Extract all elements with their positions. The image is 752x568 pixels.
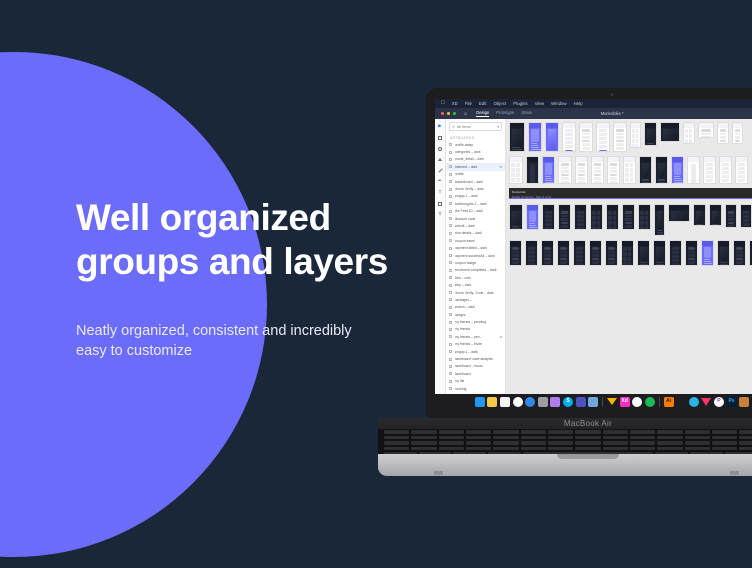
layer-name: packages –	[455, 298, 503, 302]
artboard[interactable]: shot	[655, 156, 668, 184]
menu-item-edit[interactable]: Edit	[479, 101, 487, 106]
layer-component-icon: ⧉	[500, 165, 502, 169]
artboard[interactable]: splash	[542, 156, 555, 184]
layer-visibility-icon[interactable]	[449, 365, 452, 368]
menu-item-help[interactable]: Help	[574, 101, 583, 106]
artboard[interactable]: grid	[630, 122, 641, 148]
keyboard-key	[384, 441, 409, 445]
keyboard-key	[630, 447, 655, 451]
layer-visibility-icon[interactable]	[449, 143, 452, 146]
menu-item-view[interactable]: View	[535, 101, 544, 106]
layer-name: profile	[455, 172, 503, 176]
layer-row[interactable]: phone Verify – dark	[446, 185, 505, 192]
keyboard-key	[466, 441, 491, 445]
chrome-icon[interactable]	[632, 397, 642, 407]
layer-visibility-icon[interactable]	[449, 372, 452, 375]
artboard[interactable]: cover	[509, 122, 525, 152]
keyboard-key	[657, 436, 682, 440]
layer-visibility-icon[interactable]	[449, 313, 452, 316]
layer-name: dashboard – hours	[455, 364, 503, 368]
artboard[interactable]: game	[638, 204, 651, 230]
appstore-icon[interactable]	[525, 397, 535, 407]
poster-stage: Well organized groups and layers Neatly …	[0, 0, 752, 568]
layer-name: search – dark	[455, 305, 503, 309]
layer-row[interactable]: badges	[446, 311, 505, 318]
artboard[interactable]: rank	[591, 156, 604, 184]
app-body: ▶ ✒ T ⚲ ⚲ All Items	[435, 119, 752, 394]
tab-prototype[interactable]: Prototype	[496, 110, 514, 117]
layer-row[interactable]: my friends	[446, 326, 505, 333]
keyboard-key	[466, 436, 491, 440]
keyboard-key	[739, 430, 752, 434]
device-label: MacBook Air	[378, 419, 752, 428]
principle-icon[interactable]: P	[714, 397, 724, 407]
keyboard-key	[548, 447, 573, 451]
layer-visibility-icon[interactable]	[449, 210, 452, 213]
layer-name: enrolment completed – dark	[455, 268, 503, 272]
home-icon[interactable]: ⌂	[464, 111, 467, 117]
calendar-icon[interactable]	[500, 397, 510, 407]
artboard[interactable]: menu	[732, 122, 743, 144]
layer-row[interactable]: my friends – invite	[446, 341, 505, 348]
layer-list[interactable]: profile-delaycategories – darkmovie_deta…	[446, 141, 505, 394]
layer-row[interactable]: packages –	[446, 296, 505, 303]
layer-row[interactable]: else details – dark	[446, 230, 505, 237]
keyboard-key	[712, 430, 737, 434]
layer-row[interactable]: featured – dark⧉	[446, 163, 505, 170]
keyboard-key	[603, 430, 628, 434]
layer-visibility-icon[interactable]	[449, 188, 452, 191]
artboard[interactable]: intro	[526, 204, 539, 230]
artboard[interactable]: keys	[606, 204, 619, 230]
keyboard-key	[493, 447, 518, 451]
tool-rail: ▶ ✒ T ⚲	[435, 119, 446, 394]
layer-row[interactable]: payment successful – dark	[446, 252, 505, 259]
layer-visibility-icon[interactable]	[449, 224, 452, 227]
keyboard-key	[411, 436, 436, 440]
keyboard-key	[439, 430, 464, 434]
keyboard-key	[493, 436, 518, 440]
files-icon[interactable]	[588, 397, 598, 407]
layer-name: profile-delay	[455, 143, 503, 147]
layer-visibility-icon[interactable]	[449, 180, 452, 183]
banner-subtitle: Mobile UI Design · Dark & Light	[512, 195, 752, 199]
layer-name: singup.1 – dark	[455, 194, 503, 198]
artboard[interactable]: cards	[613, 122, 627, 152]
document-title: Mockofolia *	[601, 111, 624, 116]
layer-row[interactable]: movie_detail – dark	[446, 156, 505, 163]
artboard[interactable]: form	[574, 204, 587, 230]
menu-item-plugins[interactable]: Plugins	[513, 101, 527, 106]
artboard[interactable]: poster	[545, 122, 559, 152]
keyboard-key	[603, 447, 628, 451]
layer-row[interactable]: phone Verify: Code – dark	[446, 289, 505, 296]
keyboard-key	[411, 447, 436, 451]
invision-icon[interactable]	[701, 398, 711, 406]
artboard[interactable]: stream	[668, 204, 690, 222]
artboard[interactable]: feed	[683, 122, 695, 144]
apple-logo-icon[interactable]: 	[441, 101, 445, 106]
artboard[interactable]: n	[717, 240, 730, 266]
layer-visibility-icon[interactable]	[449, 165, 452, 168]
artboard[interactable]: stats	[607, 156, 620, 184]
artboard[interactable]: i	[637, 240, 650, 266]
artboard[interactable]: photo	[639, 156, 652, 184]
layer-name: categories – dark	[455, 150, 503, 154]
artboard[interactable]: intro	[528, 122, 542, 152]
layer-visibility-icon[interactable]	[449, 261, 452, 264]
layer-name: coupon travel	[455, 239, 503, 243]
keyboard-key	[685, 441, 710, 445]
layer-visibility-icon[interactable]	[449, 269, 452, 272]
minimize-icon[interactable]	[447, 112, 450, 115]
photoshop-icon[interactable]: Ps	[727, 397, 737, 407]
layer-name: leaderboard – dark	[455, 180, 503, 184]
layer-row[interactable]: step – dark	[446, 281, 505, 288]
keyboard-key	[657, 447, 682, 451]
layer-visibility-icon[interactable]	[449, 291, 452, 294]
chevron-down-icon[interactable]: ▾	[497, 125, 499, 129]
photos-icon[interactable]	[513, 397, 523, 407]
text-tool-icon[interactable]: T	[438, 190, 443, 195]
artboard[interactable]: l	[685, 240, 698, 266]
window-controls[interactable]	[441, 112, 456, 115]
artboard[interactable]: player	[660, 122, 680, 142]
artboard-tool-icon[interactable]	[438, 201, 443, 206]
layer-row[interactable]: profile-delay	[446, 141, 505, 148]
keyboard-key	[712, 441, 737, 445]
skype-icon[interactable]: S	[563, 397, 573, 407]
layer-row[interactable]: discount code	[446, 215, 505, 222]
laptop-notch	[557, 454, 619, 459]
artboard-row: homedevicesplashnewsitemsrankstatstagsph…	[509, 156, 752, 184]
layer-row[interactable]: enrolment completed – dark	[446, 267, 505, 274]
keyboard-key	[575, 441, 600, 445]
layer-visibility-icon[interactable]	[449, 284, 452, 287]
layer-row[interactable]: watchoughts 2 – dark	[446, 200, 505, 207]
artboard[interactable]: f	[589, 240, 602, 266]
layer-name: step – dark	[455, 283, 503, 287]
close-icon[interactable]	[441, 112, 444, 115]
layer-name: discount code	[455, 217, 503, 221]
layer-visibility-icon[interactable]	[449, 202, 452, 205]
artboard[interactable]: items	[575, 156, 588, 184]
notes-icon[interactable]	[487, 397, 497, 407]
artboard-row: coverintroposterdetaillistformcardsgridv…	[509, 122, 752, 152]
layer-name: dashboard: case analysis	[455, 357, 503, 361]
artboard-row: abcdefghijklmnop	[509, 240, 752, 266]
artboard[interactable]: panel	[740, 204, 752, 228]
blue-orb-icon[interactable]	[689, 397, 699, 407]
layer-row[interactable]: dashboard: case analysis	[446, 355, 505, 362]
layer-row[interactable]: categories – dark	[446, 148, 505, 155]
keyboard-key	[630, 441, 655, 445]
keyboard-key	[685, 436, 710, 440]
artboard[interactable]: menu	[622, 204, 635, 230]
keyboard-key	[384, 447, 409, 451]
layer-row[interactable]: coupon badge	[446, 259, 505, 266]
layer-row[interactable]: tiles – cost	[446, 274, 505, 281]
artboard[interactable]: g	[605, 240, 618, 266]
layer-visibility-icon[interactable]	[449, 380, 452, 383]
keyboard-key	[739, 447, 752, 451]
layer-visibility-icon[interactable]	[449, 158, 452, 161]
sketch-pencil-icon[interactable]	[550, 397, 560, 407]
keyboard-key	[657, 441, 682, 445]
keyboard-key	[411, 441, 436, 445]
select-tool-icon[interactable]: ▶	[438, 124, 443, 129]
menu-item-file[interactable]: File	[465, 101, 472, 106]
keyboard-key	[575, 430, 600, 434]
design-canvas[interactable]: coverintroposterdetaillistformcardsgridv…	[506, 119, 752, 394]
page-title: Well organized groups and layers	[76, 196, 406, 284]
layer-name: phone Verify – dark	[455, 187, 503, 191]
macos-menubar[interactable]:  XD File Edit Object Plugins View Windo…	[435, 99, 752, 108]
keyboard-key	[603, 441, 628, 445]
layer-row[interactable]: payment failed – dark	[446, 244, 505, 251]
layer-name: booking	[455, 387, 503, 391]
sketch-icon[interactable]	[607, 398, 617, 405]
artboard[interactable]: cover	[509, 204, 523, 230]
layer-visibility-icon[interactable]	[449, 232, 452, 235]
artboard[interactable]: video	[644, 122, 657, 146]
artboard[interactable]: chat	[717, 122, 729, 144]
layer-row[interactable]: booking	[446, 385, 505, 392]
artboard[interactable]: promo	[671, 156, 684, 184]
artboard[interactable]: a	[509, 240, 522, 266]
keyboard-key	[548, 430, 573, 434]
keyboard-key	[739, 436, 752, 440]
pen-tool-icon[interactable]: ✒	[438, 179, 443, 184]
layer-name: phone Verify: Code – dark	[455, 291, 503, 295]
layer-name: dashboard	[455, 372, 503, 376]
keyboard-key	[712, 447, 737, 451]
artboard[interactable]: dark	[725, 204, 737, 228]
layer-component-icon: ⧉	[500, 335, 502, 339]
keyboard-key	[575, 447, 600, 451]
finder-icon[interactable]	[475, 397, 485, 407]
artboard[interactable]: list	[558, 204, 571, 230]
artboard[interactable]: mobile	[687, 156, 700, 184]
adobe-xd-icon[interactable]: Xd	[620, 397, 630, 407]
layer-name: my friends – invite	[455, 342, 503, 346]
layer-visibility-icon[interactable]	[449, 217, 452, 220]
keyboard-key	[439, 441, 464, 445]
layer-visibility-icon[interactable]	[449, 254, 452, 257]
artboard[interactable]: b	[525, 240, 538, 266]
keyboard-key	[521, 430, 546, 434]
layer-row[interactable]: singup.1 – dark	[446, 348, 505, 355]
keyboard-key	[439, 447, 464, 451]
artboard[interactable]: pad	[590, 204, 603, 230]
search-input[interactable]: All Items	[457, 125, 495, 129]
layer-visibility-icon[interactable]	[449, 298, 452, 301]
keyboard-key	[384, 430, 409, 434]
layer-visibility-icon[interactable]	[449, 350, 452, 353]
teams-icon[interactable]	[576, 397, 586, 407]
layer-visibility-icon[interactable]	[449, 387, 452, 390]
artboard[interactable]: hero	[654, 204, 665, 236]
artboard[interactable]: device	[526, 156, 539, 184]
layer-name: my friends	[455, 327, 503, 331]
layer-visibility-icon[interactable]	[449, 247, 452, 250]
artboard[interactable]: h	[621, 240, 634, 266]
webcam-icon	[611, 93, 614, 96]
laptop-screen:  XD File Edit Object Plugins View Windo…	[435, 99, 752, 409]
artboard[interactable]: tags	[623, 156, 636, 184]
mode-tabs: Design Prototype Share	[476, 110, 532, 117]
layer-row[interactable]: search – dark	[446, 304, 505, 311]
layer-visibility-icon[interactable]	[449, 195, 452, 198]
keyboard-key	[466, 430, 491, 434]
menu-item-xd[interactable]: XD	[452, 101, 458, 106]
artboard[interactable]: profile	[719, 156, 732, 184]
zoom-tool-icon[interactable]: ⚲	[438, 212, 443, 217]
search-icon: ⚲	[452, 124, 455, 129]
layer-visibility-icon[interactable]	[449, 343, 452, 346]
figma-icon[interactable]	[676, 397, 686, 407]
dock-separator	[602, 397, 603, 407]
layer-visibility-icon[interactable]	[449, 328, 452, 331]
artboard-row: coverintrocodelistformpadkeysmenugameher…	[509, 204, 752, 236]
layer-name: my friends – pending	[455, 320, 503, 324]
preview-icon[interactable]	[538, 397, 548, 407]
macbook-air-mockup:  XD File Edit Object Plugins View Windo…	[378, 88, 752, 480]
artboard[interactable]: live	[693, 204, 706, 226]
layer-row[interactable]: my list	[446, 378, 505, 385]
tab-share[interactable]: Share	[521, 110, 532, 117]
laptop-foot-left	[434, 471, 443, 475]
keyboard-key	[521, 447, 546, 451]
artboard[interactable]: e	[573, 240, 586, 266]
keyboard-key	[548, 441, 573, 445]
layer-visibility-icon[interactable]	[449, 151, 452, 154]
tab-design[interactable]: Design	[476, 110, 489, 117]
keyboard-key	[493, 441, 518, 445]
keyboard-key	[521, 441, 546, 445]
artboard[interactable]: k	[669, 240, 682, 266]
layer-visibility-icon[interactable]	[449, 335, 452, 338]
layer-name: badges	[455, 313, 503, 317]
menu-item-window[interactable]: Window	[551, 101, 567, 106]
layers-section-header: ARTBOARDS	[446, 134, 505, 141]
layer-name: movie_detail – dark	[455, 157, 503, 161]
layer-name: my list	[455, 379, 503, 383]
keyboard-key	[521, 436, 546, 440]
layer-name: watchoughts 2 – dark	[455, 202, 503, 206]
keyboard-key	[739, 441, 752, 445]
artboard[interactable]: c	[541, 240, 554, 266]
artboard[interactable]: d	[557, 240, 570, 266]
app-titlebar: ⌂ Design Prototype Share Mockofolia *	[435, 108, 752, 119]
layer-visibility-icon[interactable]	[449, 173, 452, 176]
illustrator-icon[interactable]: Ai	[664, 397, 674, 407]
dock-separator	[659, 397, 660, 407]
layer-row[interactable]: coupon travel	[446, 237, 505, 244]
layer-row[interactable]: dashboard – hours	[446, 363, 505, 370]
keyboard-key	[384, 436, 409, 440]
keyboard-key	[630, 436, 655, 440]
maximize-icon[interactable]	[453, 112, 456, 115]
layer-name: my friends – pen...	[455, 335, 498, 339]
layer-row[interactable]: my friends – pending	[446, 318, 505, 325]
keyboard-key	[603, 436, 628, 440]
layer-visibility-icon[interactable]	[449, 239, 452, 242]
layer-name: payment successful – dark	[455, 254, 503, 258]
keyboard-key	[439, 436, 464, 440]
artboard[interactable]: news	[558, 156, 572, 184]
layer-search-row[interactable]: ⚲ All Items ▾	[449, 122, 502, 131]
layer-visibility-icon[interactable]	[449, 321, 452, 324]
spotify-icon[interactable]	[645, 397, 655, 407]
keyboard-key	[685, 430, 710, 434]
layer-name: payment failed – dark	[455, 246, 503, 250]
banner-title: Mockofolia	[512, 190, 752, 194]
layer-row[interactable]: my friends – pen...⧉	[446, 333, 505, 340]
keyboard-key	[575, 436, 600, 440]
canvas-section-banner[interactable]: MockofoliaMobile UI Design · Dark & Ligh…	[509, 188, 752, 199]
keyboard-key	[466, 447, 491, 451]
rectangle-tool-icon[interactable]	[438, 135, 443, 140]
artboard[interactable]: cart	[703, 156, 716, 184]
macos-dock[interactable]: SXdAiPPs	[435, 394, 752, 409]
hero-copy: Well organized groups and layers Neatly …	[76, 196, 406, 361]
ellipse-tool-icon[interactable]	[438, 146, 443, 151]
artboard[interactable]: wide	[698, 122, 714, 138]
layer-row[interactable]: leaderboard – dark	[446, 178, 505, 185]
artboard[interactable]: m	[701, 240, 714, 266]
layer-visibility-icon[interactable]	[449, 276, 452, 279]
layer-row[interactable]: singup.1 – dark	[446, 193, 505, 200]
layer-row[interactable]: like Feed ID – dark	[446, 208, 505, 215]
layer-name: submit – dark	[455, 224, 503, 228]
artboard[interactable]: list	[579, 122, 593, 152]
artboard[interactable]: detail	[562, 122, 576, 152]
polygon-tool-icon[interactable]	[438, 157, 443, 162]
layer-name: tiles – cost	[455, 276, 503, 280]
artboard[interactable]: home	[509, 156, 523, 184]
layer-visibility-icon[interactable]	[449, 306, 452, 309]
laptop-lid:  XD File Edit Object Plugins View Windo…	[426, 88, 752, 418]
keyboard-key	[630, 430, 655, 434]
trash-icon[interactable]	[739, 397, 749, 407]
artboard[interactable]: pay	[735, 156, 748, 184]
keyboard-key	[657, 430, 682, 434]
keyboard-key	[493, 430, 518, 434]
menu-item-object[interactable]: Object	[494, 101, 507, 106]
artboard[interactable]: clip	[709, 204, 722, 226]
artboard[interactable]: code	[542, 204, 555, 230]
layer-row[interactable]: submit – dark	[446, 222, 505, 229]
page-subtitle: Neatly organized, consistent and incredi…	[76, 321, 406, 361]
layer-row[interactable]: profile	[446, 171, 505, 178]
artboard[interactable]: form	[596, 122, 610, 152]
artboard[interactable]: o	[733, 240, 746, 266]
keyboard-key	[548, 436, 573, 440]
layer-visibility-icon[interactable]	[449, 358, 452, 361]
artboard[interactable]: j	[653, 240, 666, 266]
keyboard-key	[712, 436, 737, 440]
keyboard-key	[411, 430, 436, 434]
layer-name: else details – dark	[455, 231, 503, 235]
line-tool-icon[interactable]	[438, 168, 443, 173]
layer-name: like Feed ID – dark	[455, 209, 503, 213]
layer-name: singup.1 – dark	[455, 350, 503, 354]
layers-panel: ⚲ All Items ▾ ARTBOARDS profile-delaycat…	[446, 119, 506, 394]
layer-row[interactable]: dashboard	[446, 370, 505, 377]
keyboard-key	[685, 447, 710, 451]
laptop-keyboard	[378, 429, 752, 454]
